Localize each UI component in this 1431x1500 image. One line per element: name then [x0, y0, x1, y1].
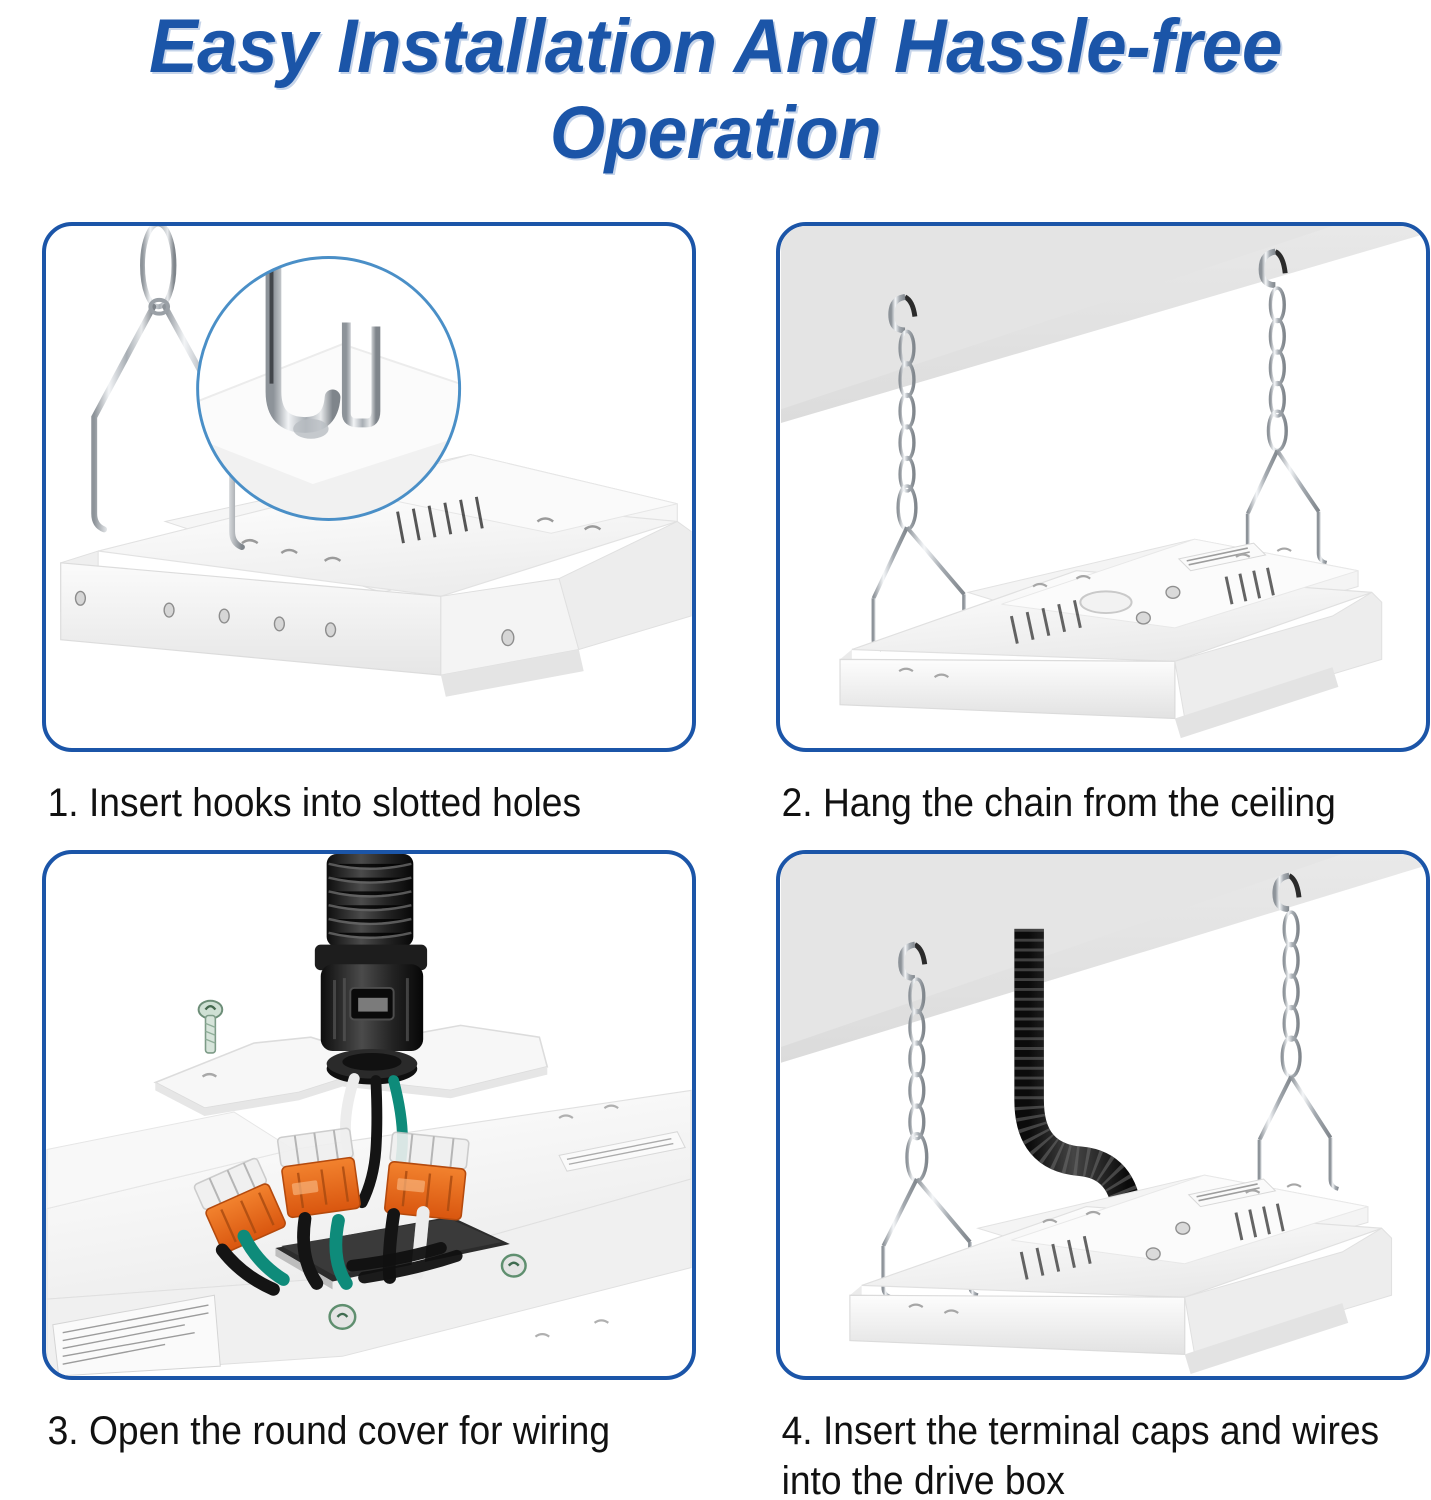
step-2: 2. Hang the chain from the ceiling: [776, 222, 1430, 828]
step-4-image-frame: [776, 850, 1430, 1380]
flexible-conduit: [327, 854, 414, 947]
step-2-caption: 2. Hang the chain from the ceiling: [776, 778, 1384, 828]
magnifier-circle-inset: [198, 258, 460, 520]
step-1: 1. Insert hooks into slotted holes: [42, 222, 696, 828]
oval-ring: [142, 226, 174, 307]
page-title-line-1: Easy Installation And Hassle-free: [29, 4, 1403, 90]
infographic-page: Easy Installation And Hassle-free Operat…: [0, 0, 1431, 1500]
step-4: 4. Insert the terminal caps and wires in…: [776, 850, 1430, 1500]
steps-grid: 1. Insert hooks into slotted holes: [0, 222, 1431, 1500]
step-4-caption: 4. Insert the terminal caps and wires in…: [776, 1406, 1384, 1500]
led-high-bay-fixture: [850, 1175, 1392, 1374]
chain-right: [1260, 876, 1339, 1193]
green-screw: [199, 1001, 223, 1053]
page-title-line-2: Operation: [29, 90, 1403, 176]
page-title: Easy Installation And Hassle-free Operat…: [0, 4, 1431, 176]
step-3-image-frame: [42, 850, 696, 1380]
step-3: 3. Open the round cover for wiring: [42, 850, 696, 1456]
led-high-bay-fixture: [840, 539, 1382, 738]
step-2-image-frame: [776, 222, 1430, 752]
step-2-illustration: [780, 226, 1426, 748]
step-3-caption: 3. Open the round cover for wiring: [42, 1406, 650, 1456]
strain-relief-connector: [315, 945, 427, 1051]
lever-connector-1: [277, 1128, 360, 1218]
chain-right: [1248, 252, 1327, 567]
step-1-image-frame: [42, 222, 696, 752]
step-1-illustration: [46, 226, 692, 748]
step-3-illustration: [46, 854, 692, 1376]
led-high-bay-fixture: [47, 1090, 691, 1376]
step-1-caption: 1. Insert hooks into slotted holes: [42, 778, 650, 828]
step-4-illustration: [780, 854, 1426, 1376]
round-cover: [1080, 591, 1131, 613]
lever-connector-2: [384, 1132, 469, 1220]
